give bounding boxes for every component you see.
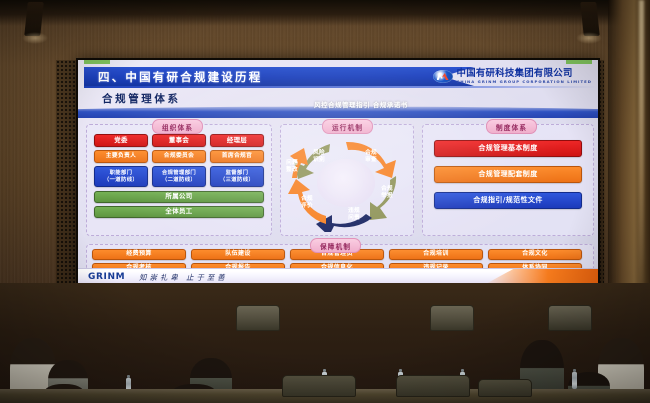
- cycle-segment-compliance-evaluation: 合规 评价: [294, 194, 320, 212]
- cycle-segment-compliance-report: 合规 举报: [374, 184, 400, 202]
- safeguard-chip-training: 合规培训: [389, 249, 483, 260]
- cycle-segment-violation-accountability: 违规 问责: [340, 206, 368, 224]
- institution-chip-basic: 合规管理基本制度: [434, 140, 582, 157]
- wall-sconce-right: [580, 2, 600, 36]
- org-chip-cco: 首席合规官: [210, 150, 264, 163]
- title-underline: [84, 86, 596, 88]
- org-chip-line1: 职能部门 （一道防线）: [94, 166, 148, 187]
- slide-body: 风控合规管理指引 合规承诺书 组织体系 党委 董事会 经理层 主要负责人 合规委…: [78, 104, 598, 285]
- org-chip-line2: 合规管理部门 （二道防线）: [152, 166, 206, 187]
- front-chair-1: [282, 375, 356, 397]
- slide-title-band: 四、中国有研合规建设历程: [84, 67, 474, 86]
- org-chip-board: 董事会: [152, 134, 206, 147]
- org-chip-subsidiary: 所属公司: [94, 191, 264, 203]
- cycle-segment-risk-identification: 风险 识别: [306, 148, 332, 166]
- org-chip-party: 党委: [94, 134, 148, 147]
- front-chair-2: [396, 375, 470, 397]
- projection-screen: 四、中国有研合规建设历程 中国有研科技集团有限公司 CHINA GRINM GR…: [76, 58, 600, 287]
- institution-chip-supporting: 合规管理配套制度: [434, 166, 582, 183]
- presentation-slide: 四、中国有研合规建设历程 中国有研科技集团有限公司 CHINA GRINM GR…: [78, 60, 598, 285]
- logo-english-name: CHINA GRINM GROUP CORPORATION LIMITED: [457, 80, 592, 84]
- organization-label: 组织体系: [152, 119, 203, 134]
- slide-tab-left: [84, 60, 110, 64]
- safeguard-chip-budget: 经费预算: [92, 249, 186, 260]
- cycle-segment-problem-rectification: 问题 整改: [280, 158, 304, 176]
- sconce-glow-left: [22, 32, 48, 44]
- institution-label: 制度体系: [486, 119, 537, 134]
- safeguard-chip-culture: 合规文化: [488, 249, 582, 260]
- conference-room-photo: 四、中国有研合规建设历程 中国有研科技集团有限公司 CHINA GRINM GR…: [0, 0, 650, 403]
- chair-left: [236, 305, 280, 331]
- institution-chip-guideline: 合规指引/规范性文件: [434, 192, 582, 209]
- cycle-hub: [317, 159, 375, 207]
- grinm-logo-icon: [433, 70, 453, 83]
- slide-title: 四、中国有研合规建设历程: [84, 69, 262, 85]
- compliance-cycle-diagram: 风险 识别 合规 审查 合规 举报 违规 问责 合规 评价 问题 整改: [284, 132, 410, 232]
- chair-right-2: [548, 305, 592, 331]
- operation-label: 运行机制: [322, 119, 373, 134]
- org-chip-committee: 合规委员会: [152, 150, 206, 163]
- ceiling-shadow: [0, 0, 650, 26]
- org-chip-line3: 监督部门 （三道防线）: [210, 166, 264, 187]
- corporate-logo: 中国有研科技集团有限公司 CHINA GRINM GROUP CORPORATI…: [433, 68, 592, 85]
- front-chair-3: [478, 379, 532, 397]
- acoustic-panel-left: [56, 60, 78, 290]
- logo-chinese-name: 中国有研科技集团有限公司: [457, 69, 592, 78]
- footer-brand: GRINM: [78, 272, 125, 282]
- safeguard-chip-team: 队伍建设: [191, 249, 285, 260]
- chair-right-1: [430, 305, 474, 331]
- safeguard-label: 保障机制: [310, 238, 361, 253]
- sconce-glow-right: [576, 32, 602, 44]
- org-chip-employees: 全体员工: [94, 206, 264, 218]
- org-chip-principal: 主要负责人: [94, 150, 148, 163]
- slide-tab-right: [566, 60, 592, 64]
- top-banner-text: 风控合规管理指引 合规承诺书: [306, 101, 416, 110]
- footer-motto: 知崇礼卑 止于至善: [139, 272, 227, 283]
- water-bottle-front-5: [572, 372, 577, 389]
- cycle-segment-compliance-review: 合规 审查: [358, 148, 384, 166]
- org-chip-management: 经理层: [210, 134, 264, 147]
- wall-light-strip: [639, 0, 644, 300]
